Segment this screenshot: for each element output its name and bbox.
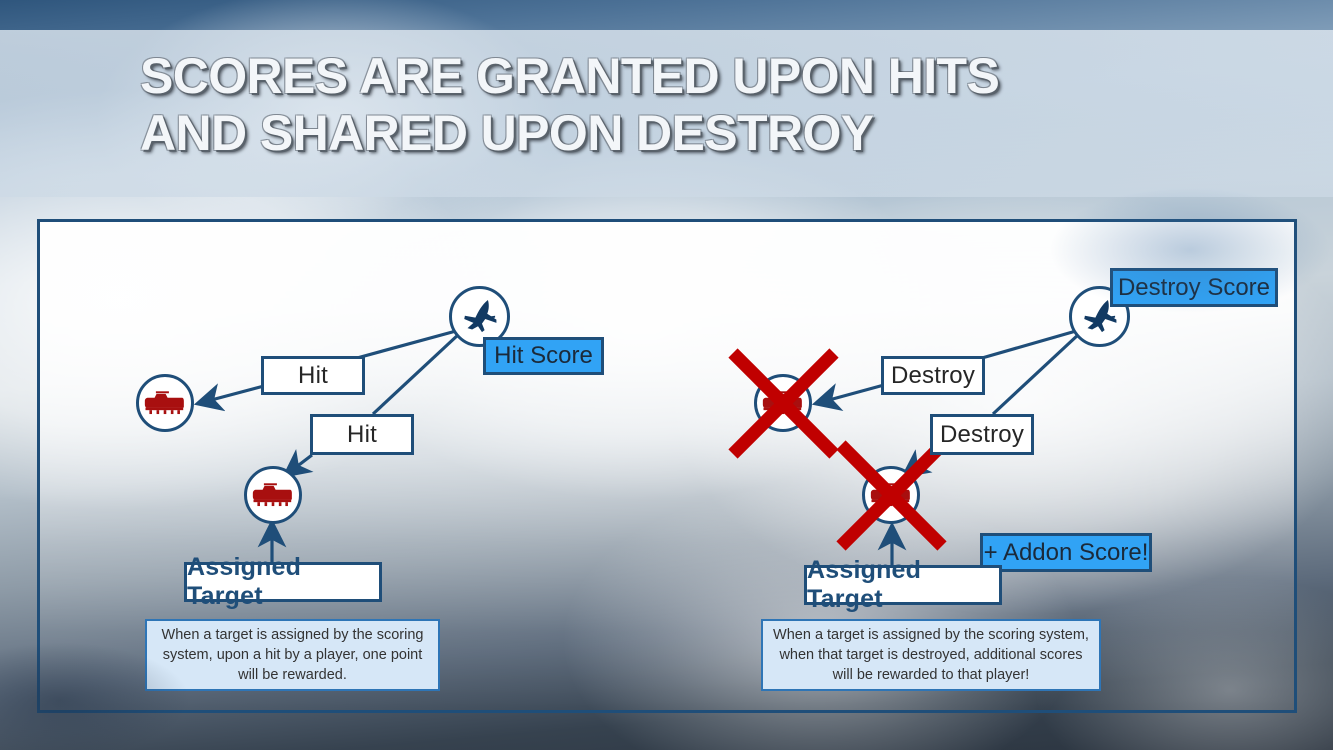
hit-label-2: Hit	[310, 414, 414, 455]
line-destroy2-to-target2	[906, 455, 932, 474]
destroy-label-1: Destroy	[881, 356, 985, 395]
right-target-vehicle-2-node[interactable]	[862, 466, 920, 524]
armored-vehicle-icon	[252, 482, 294, 508]
hit-score-badge[interactable]: Hit Score	[483, 337, 604, 375]
destroy-score-badge[interactable]: Destroy Score	[1110, 268, 1278, 307]
line-hit1-to-target1	[200, 386, 264, 403]
hit-label-1: Hit	[261, 356, 365, 395]
fighter-jet-icon	[459, 296, 501, 338]
destroy-label-2: Destroy	[930, 414, 1034, 455]
assigned-target-label-left: Assigned Target	[184, 562, 382, 602]
line-jet-to-destroy1	[982, 331, 1076, 358]
line-jet-to-hit1	[357, 331, 456, 358]
right-caption: When a target is assigned by the scoring…	[761, 619, 1101, 691]
assigned-target-label-right: Assigned Target	[804, 565, 1002, 605]
line-jet-to-hit2	[373, 334, 459, 414]
diagram-stage: Hit Score Hit Hit Assigned Target When a…	[0, 0, 1333, 750]
left-target-vehicle-2-node[interactable]	[244, 466, 302, 524]
right-target-vehicle-1-node[interactable]	[754, 374, 812, 432]
presentation-slide: SCORES ARE GRANTED UPON HITS AND SHARED …	[0, 0, 1333, 750]
armored-vehicle-icon	[870, 482, 912, 508]
line-destroy1-to-target1	[818, 385, 884, 403]
left-caption: When a target is assigned by the scoring…	[145, 619, 440, 691]
armored-vehicle-icon	[144, 390, 186, 416]
armored-vehicle-icon	[762, 390, 804, 416]
line-jet-to-destroy2	[993, 334, 1079, 414]
addon-score-badge[interactable]: + Addon Score!	[980, 533, 1152, 572]
left-target-vehicle-1-node[interactable]	[136, 374, 194, 432]
